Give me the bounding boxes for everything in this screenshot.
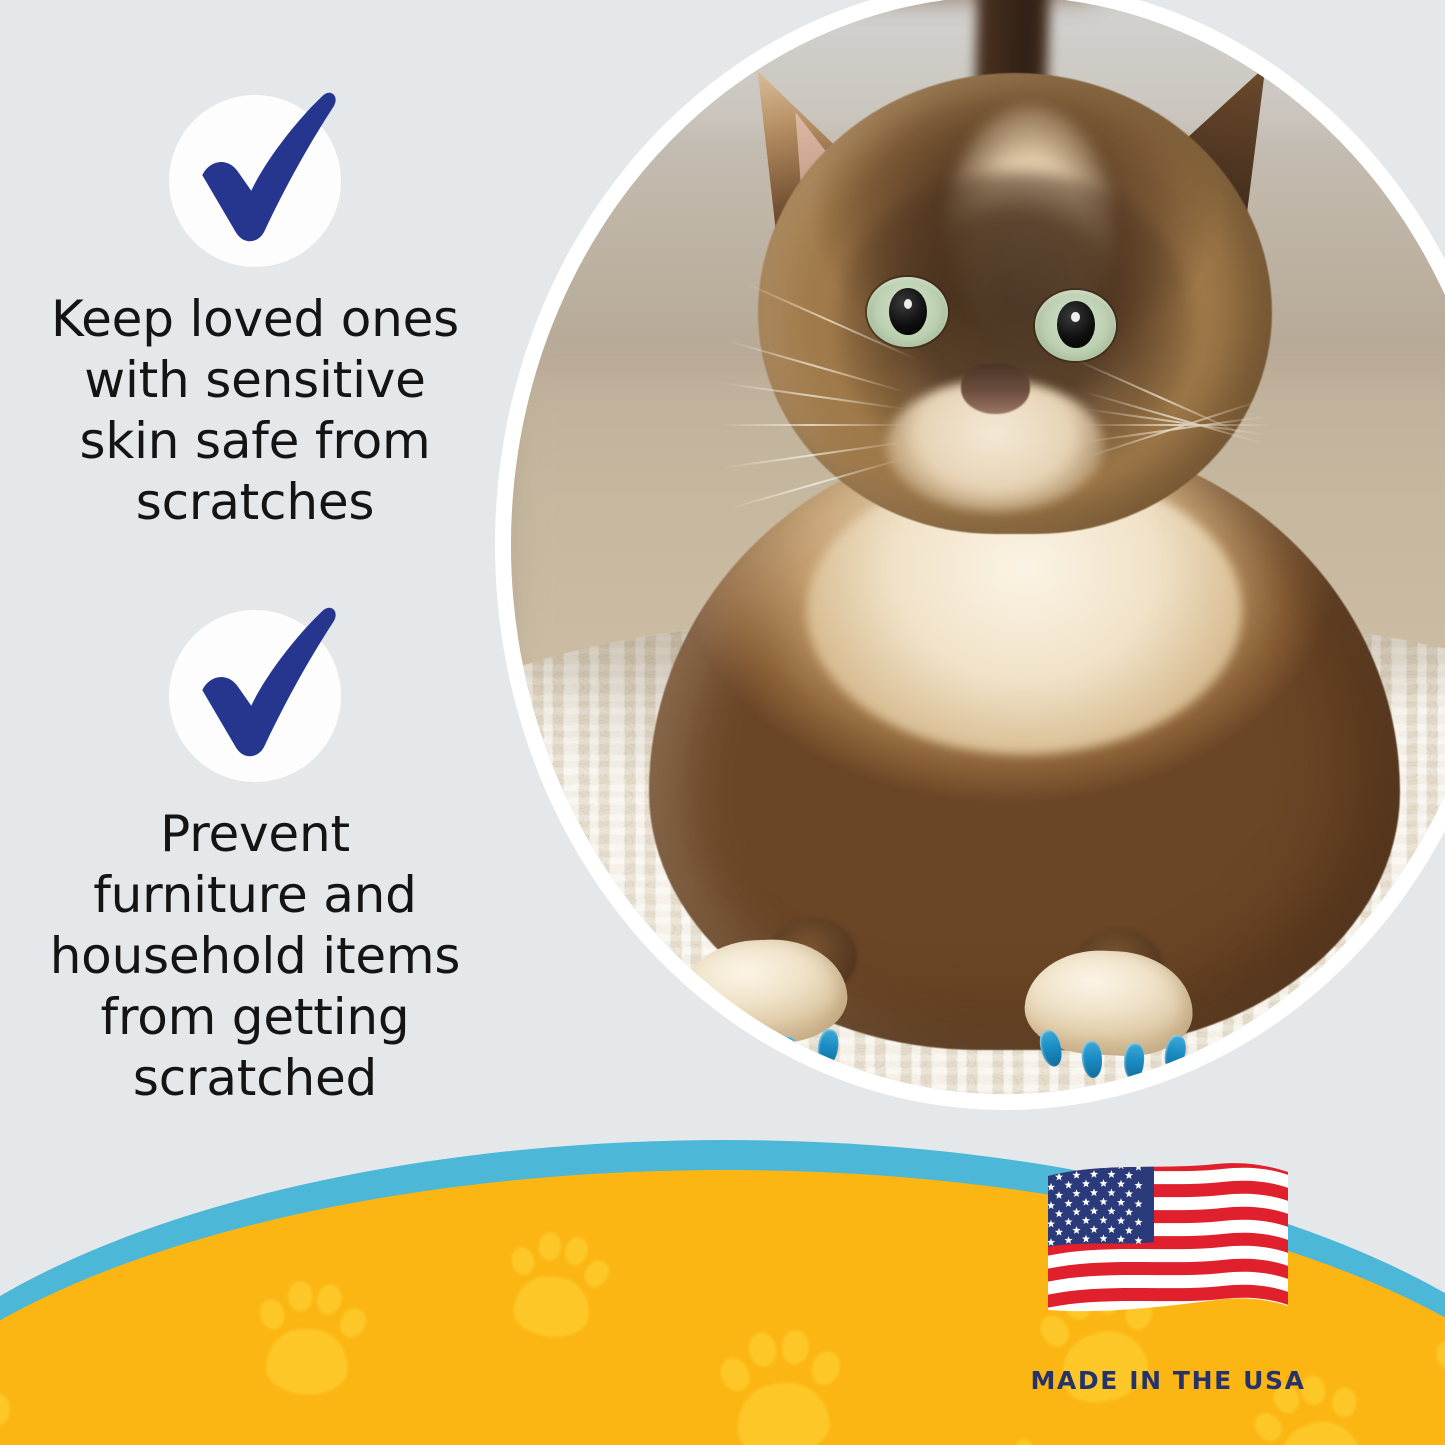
paw-print (963, 1427, 1088, 1445)
product-image-canvas: Keep loved ones with sensitive skin safe… (0, 0, 1445, 1445)
flag-star (1047, 1164, 1055, 1172)
whisker (744, 282, 916, 360)
flag-star (1099, 1161, 1107, 1169)
whisker (1084, 408, 1270, 436)
nail-cap (776, 1036, 796, 1074)
feature-text-1: Keep loved ones with sensitive skin safe… (20, 289, 490, 533)
feature-item-2: Prevent furniture and household items fr… (0, 610, 510, 1109)
made-in-usa-badge: MADE IN THE USA (1018, 1160, 1318, 1395)
feature-item-1: Keep loved ones with sensitive skin safe… (0, 95, 510, 533)
photo-scene (511, 0, 1445, 1094)
paw-print (0, 1366, 32, 1445)
paw-print (502, 1225, 621, 1348)
paw-print (721, 1324, 854, 1445)
made-in-usa-label: MADE IN THE USA (1018, 1366, 1318, 1395)
usa-flag-icon (1042, 1160, 1294, 1328)
cat-photo (495, 0, 1445, 1110)
checkmark-icon (169, 610, 341, 782)
paw-print (1435, 1307, 1445, 1436)
whisker (725, 457, 906, 511)
cat-whiskers (511, 0, 1445, 1094)
feature-text-2: Prevent furniture and household items fr… (20, 804, 490, 1109)
flag-star (1082, 1161, 1090, 1169)
paw-print (254, 1275, 375, 1401)
checkmark-icon (169, 95, 341, 267)
whisker (725, 340, 906, 394)
whisker (720, 382, 906, 410)
flag-star (1064, 1162, 1072, 1170)
photo-disc (511, 0, 1445, 1094)
whisker (718, 424, 906, 426)
feature-list: Keep loved ones with sensitive skin safe… (0, 0, 510, 1120)
cat-figure (511, 0, 1445, 1094)
